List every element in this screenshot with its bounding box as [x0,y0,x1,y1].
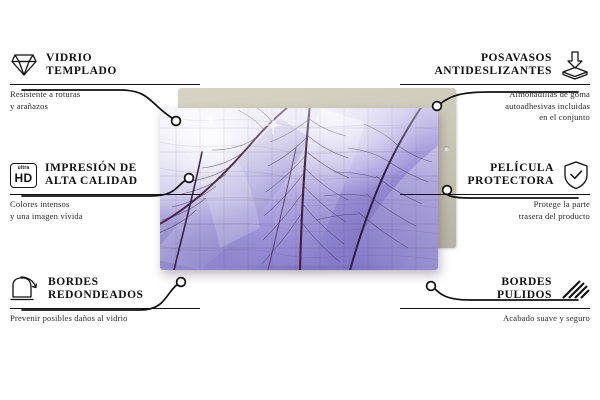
feature-header: ultra HD IMPRESIÓN DE ALTA CALIDAD [10,158,200,192]
feature-divider [10,194,200,195]
feature-header: BORDES PULIDOS [400,272,590,306]
feature-divider [400,84,590,85]
feature-description: Prevenir posibles daños al vidrio [10,313,200,324]
feature-description: Acabado suave y seguro [400,313,590,324]
feature-bordes-pulidos: BORDES PULIDOS Acabado suave y seguro [400,272,590,325]
feature-header: BORDES REDONDEADOS [10,272,200,306]
feature-description: Almohadillas de goma autoadhesivas inclu… [400,89,590,123]
feature-impresion-alta-calidad: ultra HD IMPRESIÓN DE ALTA CALIDAD Color… [10,158,200,222]
feature-divider [400,308,590,309]
feature-description: Colores intensos y una imagen vívida [10,199,200,221]
glass-panel-leaf-print [160,108,438,270]
leaf-veins-artwork [160,108,438,270]
feature-title: VIDRIO TEMPLADO [46,52,117,78]
feature-header: PELÍCULA PROTECTORA [400,158,590,192]
shield-check-icon [562,160,590,190]
feature-header: POSAVASOS ANTIDESLIZANTES [400,48,590,82]
mounting-hole [444,146,449,151]
feature-pelicula-protectora: PELÍCULA PROTECTORA Protege la parte tra… [400,158,590,222]
infographic-canvas: VIDRIO TEMPLADO Resistente a roturas y a… [0,0,600,400]
feature-description: Resistente a roturas y arañazos [10,89,200,111]
feature-bordes-redondeados: BORDES REDONDEADOS Prevenir posibles dañ… [10,272,200,325]
feature-vidrio-templado: VIDRIO TEMPLADO Resistente a roturas y a… [10,48,200,112]
feature-divider [10,84,200,85]
feature-title: BORDES PULIDOS [497,276,552,302]
feature-posavasos-antideslizantes: POSAVASOS ANTIDESLIZANTES Almohadillas d… [400,48,590,123]
press-pad-icon [560,50,590,80]
diagonal-stripes-icon [560,277,590,301]
diamond-icon [10,52,38,78]
feature-title: POSAVASOS ANTIDESLIZANTES [434,52,552,78]
feature-title: BORDES REDONDEADOS [48,276,144,302]
ultra-hd-icon: ultra HD [10,163,37,188]
feature-divider [400,194,590,195]
rounded-corner-icon [10,276,40,302]
feature-divider [10,308,200,309]
feature-title: PELÍCULA PROTECTORA [468,162,554,188]
feature-title: IMPRESIÓN DE ALTA CALIDAD [45,162,138,188]
ultra-hd-badge-main: HD [15,172,33,184]
feature-description: Protege la parte trasera del producto [400,199,590,221]
feature-header: VIDRIO TEMPLADO [10,48,200,82]
